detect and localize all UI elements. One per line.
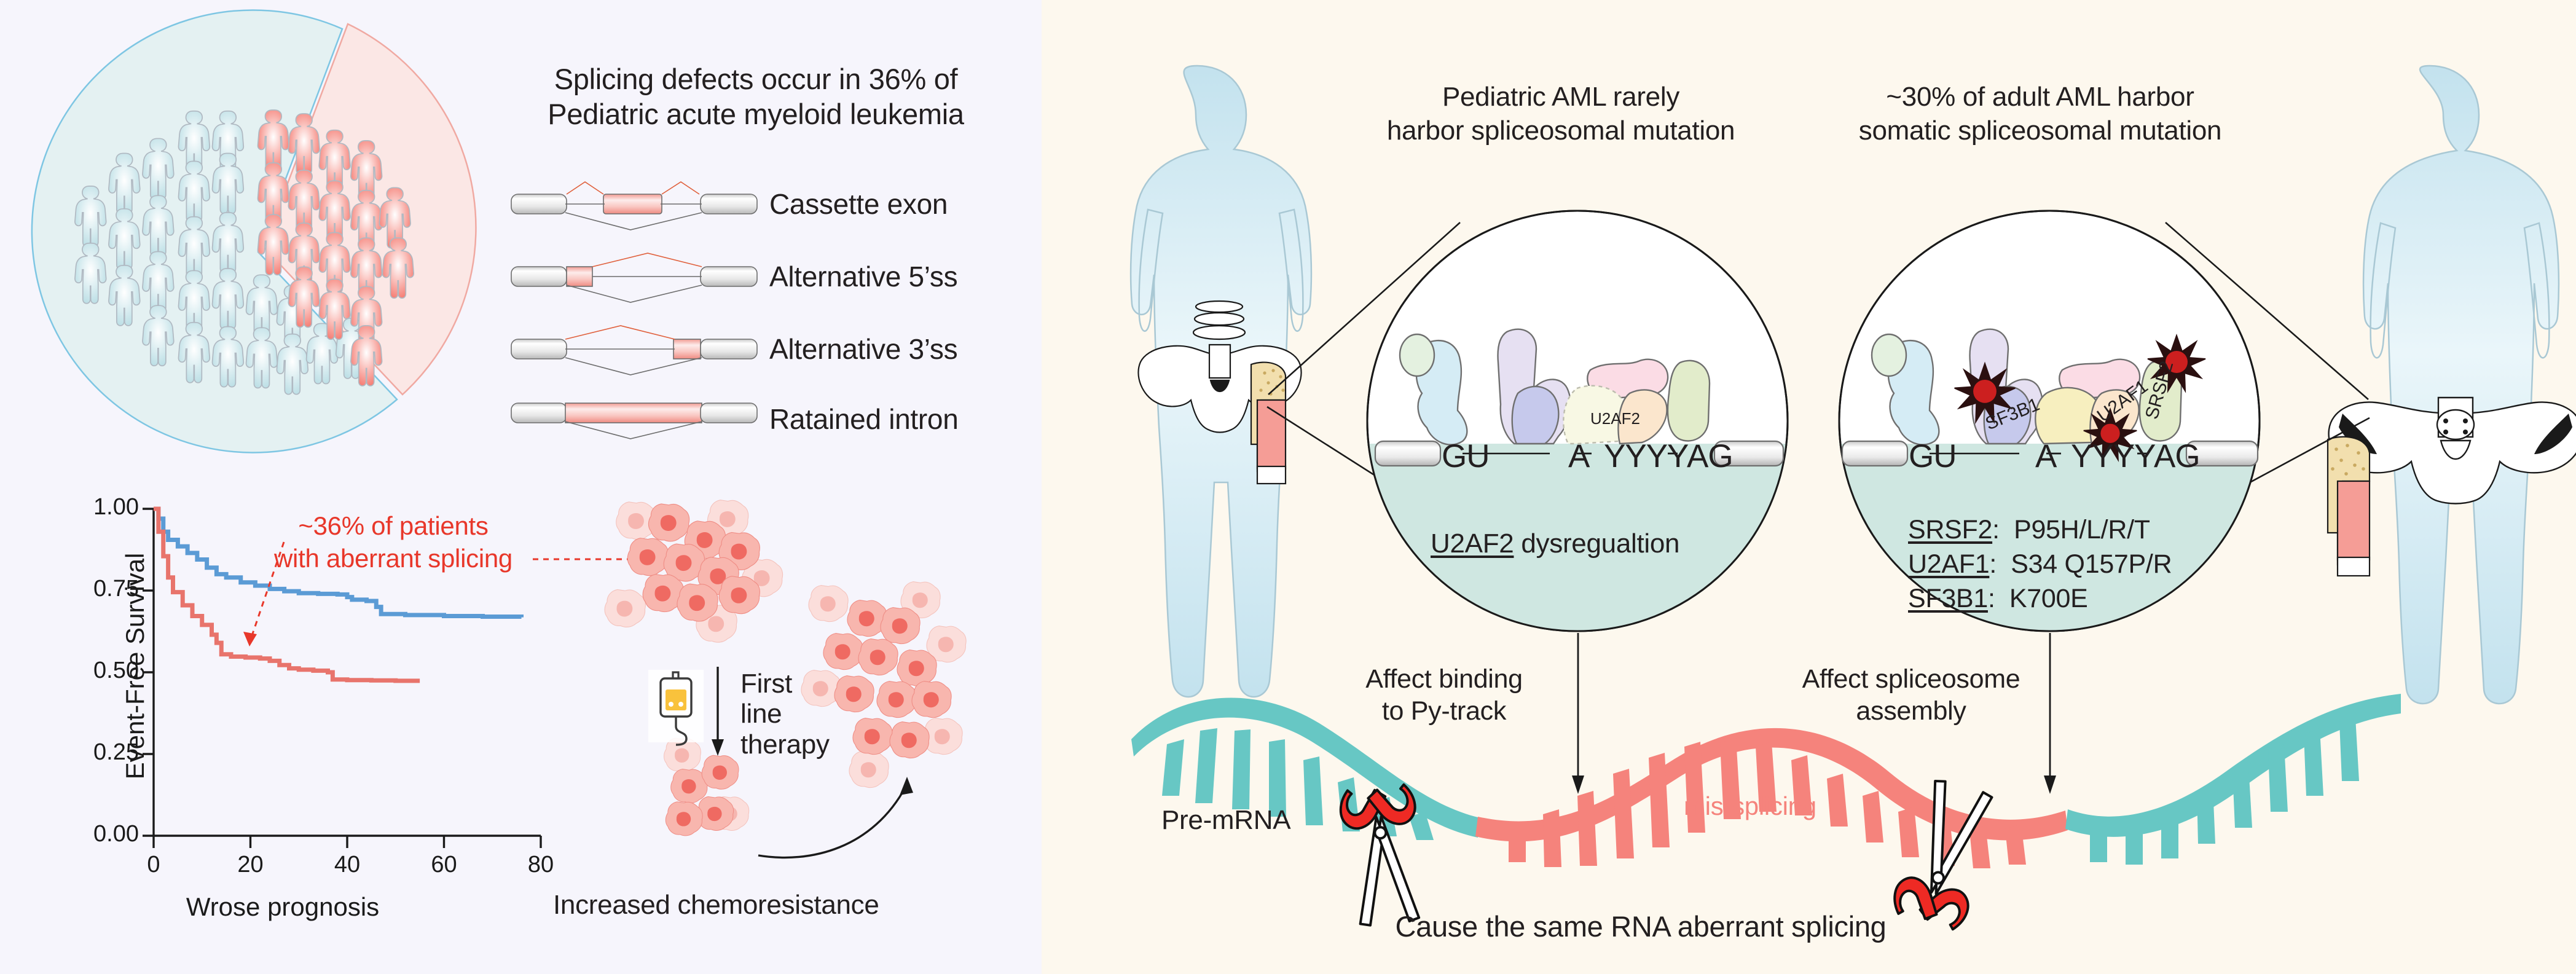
mutation-variants-u2af1: S34 Q157P/R [2011,549,2172,579]
resistance-curved-arrow [756,756,940,866]
left-magnifier-circle: U2AF2 [1365,209,1789,633]
u2af2-blob-label: U2AF2 [1590,409,1640,428]
left-circle-headline: Pediatric AML rarely harbor spliceosomal… [1358,80,1764,147]
left-headline: Splicing defects occur in 36% of Pediatr… [510,61,1002,132]
splicing-label-alt-3ss: Alternative 3’ss [769,332,957,366]
mutation-gene-srsf2: SRSF2 [1908,515,1992,544]
mutation-row-srsf2: SRSF2: P95H/L/R/T [1908,513,2172,548]
splicing-label-cassette-exon: Cassette exon [769,187,948,221]
y-tick-label: 0.25 [80,739,139,766]
graphical-abstract: Splicing defects occur in 36% of Pediatr… [0,0,2576,974]
pre-mrna-label: Pre-mRNA [1161,805,1290,836]
first-line-therapy-label: First line therapy [740,669,830,760]
rna-acceptor-site-right: AG [2154,438,2200,475]
x-tick-label: 0 [129,852,178,878]
left-headline-line-1: Pediatric AML rarely [1358,80,1764,114]
helix-teal-right [2065,694,2401,865]
x-tick-label: 20 [226,852,275,878]
first-line-therapy-arrow [705,667,730,762]
rna-branch-point-right: A [2035,438,2056,475]
diagram-alt-3ss [511,326,757,375]
rna-donor-site-right: GU [1909,438,1957,475]
tumor-cluster-large-initial [602,498,823,682]
left-arrow-label-line-1: Affect binding [1340,664,1549,696]
mutation-variants-sf3b1: K700E [2009,584,2088,613]
y-tick-label: 1.00 [80,494,139,520]
rna-py-track-left: YYYY [1604,438,1688,475]
rna-acceptor-site-left: AG [1687,438,1733,475]
headline-line-1: Splicing defects occur in 36% of [510,61,1002,96]
splicing-label-alt-5ss: Alternative 5’ss [769,260,957,293]
diagram-cassette-exon [511,182,757,230]
therapy-line-3: therapy [740,729,830,760]
y-tick-label: 0.00 [80,821,139,847]
mis-splicing-label: mis-splicing [1684,791,1816,821]
right-headline-line-2: somatic spliceosomal mutation [1825,114,2255,147]
mutation-gene-u2af1: U2AF1 [1908,549,1989,579]
bottom-caption: Cause the same RNA aberrant splicing [1309,909,1973,943]
splicing-label-retained-intron: Ratained intron [769,403,958,436]
mutation-row-u2af1: U2AF1: S34 Q157P/R [1908,548,2172,582]
x-tick-label: 40 [323,852,372,878]
km-annotation-line-1: ~36% of patients [258,510,528,543]
x-tick-label: 80 [516,852,565,878]
x-axis-title: Wrose prognosis [154,892,412,922]
mutation-variants-srsf2: P95H/L/R/T [2014,515,2150,544]
right-headline-line-1: ~30% of adult AML harbor [1825,80,2255,114]
km-annotation: ~36% of patients with aberrant splicing [258,510,528,575]
rna-donor-site-left: GU [1442,438,1490,475]
headline-line-2: Pediatric acute myeloid leukemia [510,96,1002,132]
chemoresistance-caption: Increased chemoresistance [553,890,879,921]
left-headline-line-2: harbor spliceosomal mutation [1358,114,1764,147]
x-tick-label: 60 [420,852,469,878]
annotation-arrowhead [243,632,257,646]
therapy-line-2: line [740,699,830,729]
km-annotation-line-2: with aberrant splicing [258,543,528,575]
right-circle-headline: ~30% of adult AML harbor somatic spliceo… [1825,80,2255,147]
right-arrow-label-line-1: Affect spliceosome [1788,664,2034,696]
mutation-gene-sf3b1: SF3B1 [1908,584,1988,613]
y-tick-label: 0.50 [80,658,139,684]
left-circle-caption: U2AF2 dysregualtion [1431,528,1679,559]
rna-py-track-right: YYYY [2071,438,2155,475]
left-circle-gene: U2AF2 [1431,528,1514,559]
diagram-retained-intron [511,403,757,439]
iv-bag-icon [648,670,704,762]
diagram-alt-5ss [511,253,757,302]
therapy-line-1: First [740,669,830,699]
pictogram-pie-chart [37,31,479,473]
left-circle-caption-rest: dysregualtion [1514,528,1679,559]
mutation-row-sf3b1: SF3B1: K700E [1908,582,2172,616]
y-tick-label: 0.75 [80,576,139,602]
mutation-list: SRSF2: P95H/L/R/T U2AF1: S34 Q157P/R SF3… [1908,513,2172,616]
rna-branch-point-left: A [1568,438,1589,475]
